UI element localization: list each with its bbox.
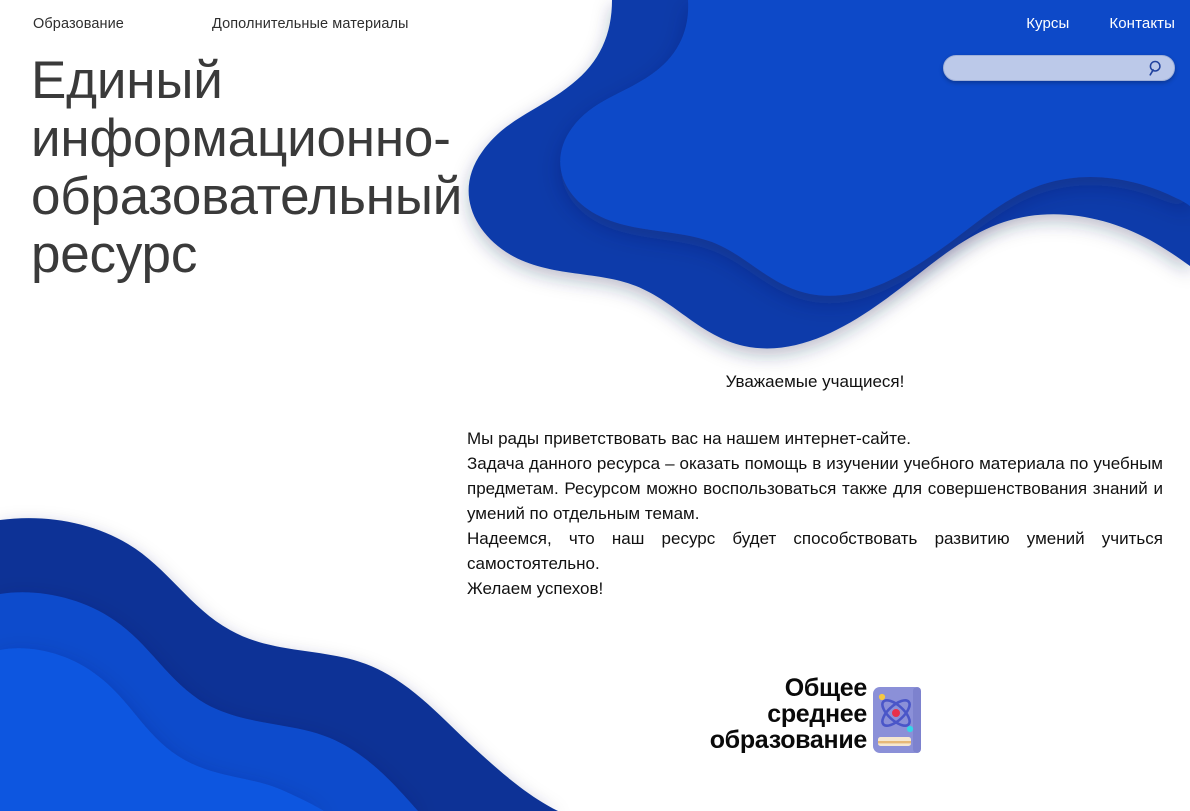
search-input[interactable] — [944, 57, 1174, 79]
logo[interactable]: Общее среднее образование — [667, 675, 923, 755]
wave-bottom-bright — [0, 648, 324, 811]
nav-left-group: Образование Дополнительные материалы — [33, 16, 409, 32]
content-body: Мы рады приветствовать вас на нашем инте… — [467, 426, 1163, 601]
nav-link-kontakty[interactable]: Контакты — [1109, 15, 1175, 32]
wave-bottom-mid — [0, 592, 418, 811]
content-paragraph-4: Желаем успехов! — [467, 576, 1163, 601]
page-root: Образование Дополнительные материалы Кур… — [0, 0, 1190, 811]
nav-link-kursy[interactable]: Курсы — [1026, 15, 1069, 32]
search-box[interactable] — [943, 55, 1175, 81]
content-greeting: Уважаемые учащиеся! — [467, 370, 1163, 394]
logo-text: Общее среднее образование — [710, 675, 867, 755]
main-content: Уважаемые учащиеся! Мы рады приветствова… — [467, 370, 1163, 601]
content-paragraph-2: Задача данного ресурса – оказать помощь … — [467, 451, 1163, 526]
nav-right-group: Курсы Контакты — [915, 15, 1175, 32]
logo-line-1: Общее — [710, 675, 867, 701]
nav-link-dopmaterialy[interactable]: Дополнительные материалы — [212, 16, 409, 32]
nav-link-obrazovanie[interactable]: Образование — [33, 16, 124, 32]
content-paragraph-1: Мы рады приветствовать вас на нашем инте… — [467, 426, 1163, 451]
book-atom-icon — [871, 685, 923, 755]
search-bar — [943, 55, 1175, 81]
content-paragraph-3: Надеемся, что наш ресурс будет способств… — [467, 526, 1163, 576]
search-icon[interactable] — [1147, 59, 1166, 78]
logo-line-3: образование — [710, 727, 867, 753]
logo-line-2: среднее — [710, 701, 867, 727]
